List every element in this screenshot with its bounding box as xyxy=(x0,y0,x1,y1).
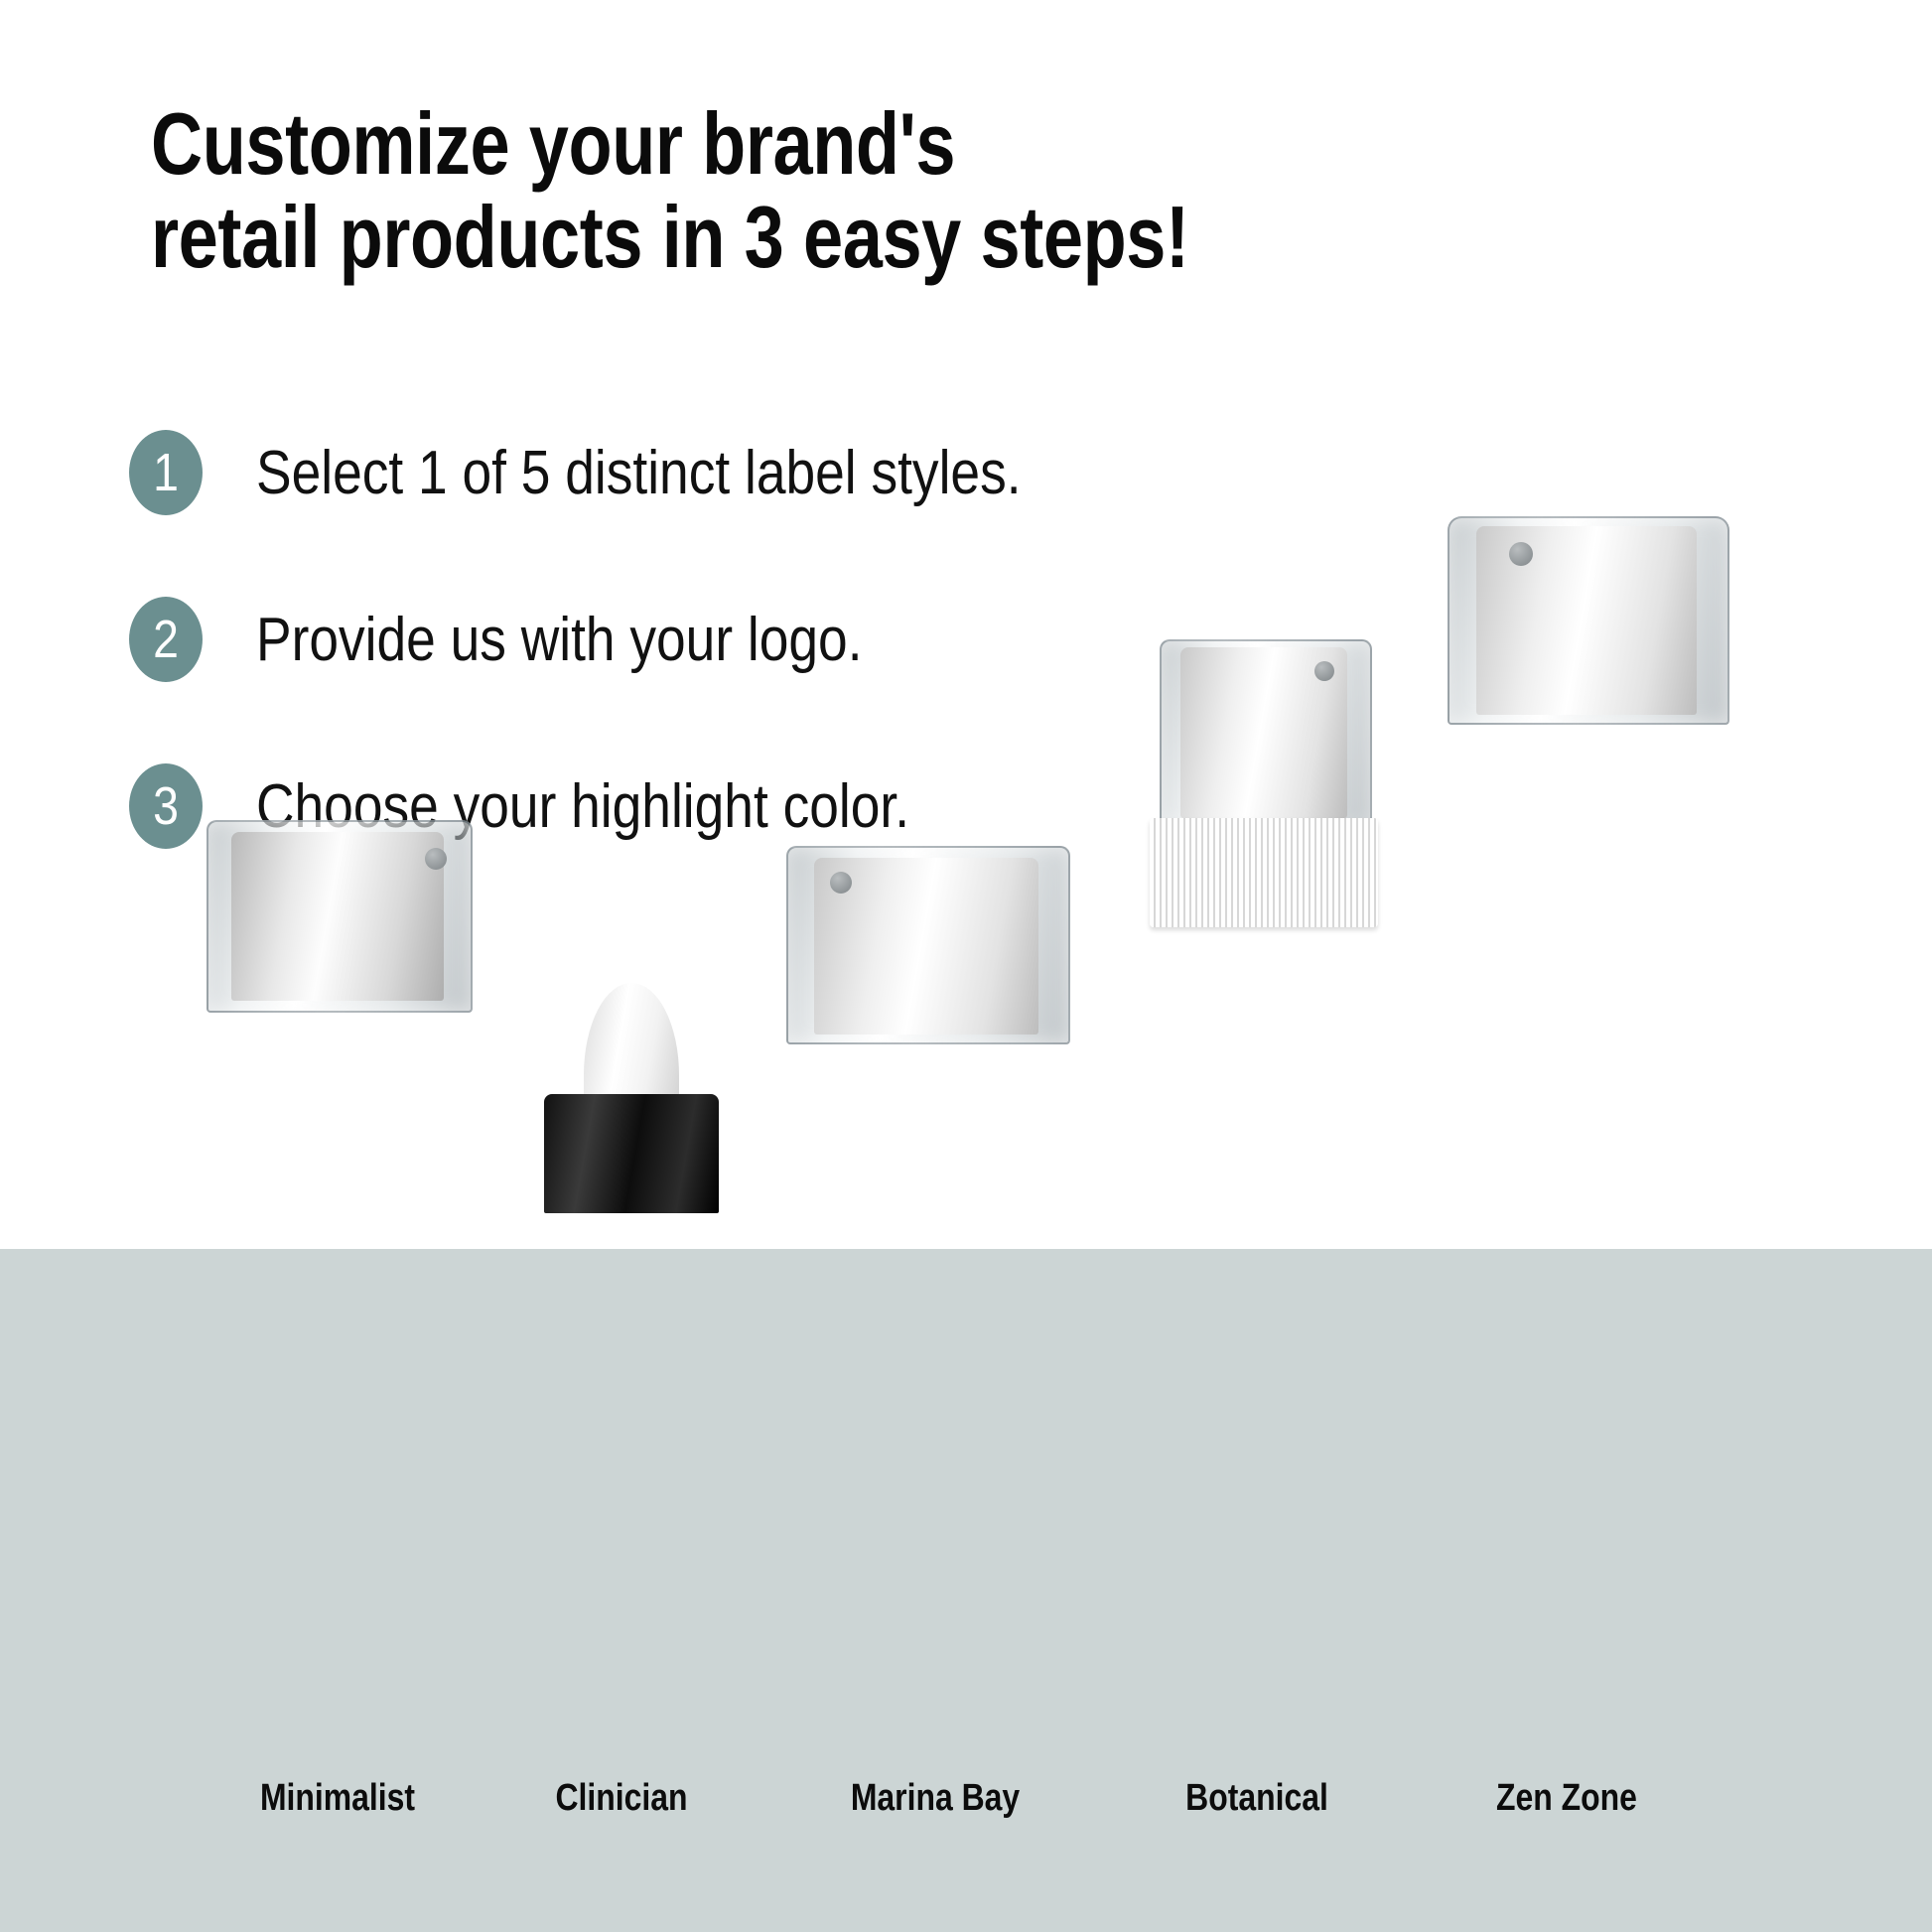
marina-nozzle-icon xyxy=(830,872,852,894)
caption-marina-bay: Marina Bay xyxy=(768,1777,1102,1820)
poster-canvas: Customize your brand's retail products i… xyxy=(0,0,1932,1932)
product-minimalist[interactable]: W YOUR BRAND NAME your tagline Hydrating… xyxy=(195,1080,481,1787)
botanical-nozzle-icon xyxy=(1314,661,1334,681)
product-botanical[interactable]: 100% natural source skincare AHA Toner 4… xyxy=(1134,937,1394,1787)
page-title: Customize your brand's retail products i… xyxy=(151,97,1372,284)
product-lineup: W YOUR BRAND NAME your tagline Hydrating… xyxy=(0,635,1932,1787)
minimalist-nozzle-icon xyxy=(425,848,447,870)
style-name-row: Minimalist Clinician Marina Bay Botanica… xyxy=(0,1777,1932,1866)
caption-botanical: Botanical xyxy=(1098,1777,1415,1820)
product-zen-zone[interactable]: YOUR BRAND NAME YOUR TAGLINE Rejuvenatin… xyxy=(1442,846,1731,1787)
caption-zen-zone: Zen Zone xyxy=(1408,1777,1725,1820)
step-badge-1: 1 xyxy=(129,430,203,515)
product-marina-bay[interactable]: YOUR BRAND NAME YOUR TAGLINE Purifying T… xyxy=(774,1102,1078,1787)
product-clinician[interactable]: Restorative Facial Oil YOUR BRAND NAME Y… xyxy=(532,1211,731,1787)
step-label-1: Select 1 of 5 distinct label styles. xyxy=(256,438,1022,508)
caption-clinician: Clinician xyxy=(472,1777,771,1820)
caption-minimalist: Minimalist xyxy=(188,1777,487,1820)
zen-nozzle-icon xyxy=(1509,542,1533,566)
minimalist-pump xyxy=(231,832,443,1001)
clinician-dropper-collar xyxy=(544,1094,719,1213)
botanical-ribbed-collar xyxy=(1150,818,1379,927)
step-item-1: 1 Select 1 of 5 distinct label styles. xyxy=(123,425,1414,520)
